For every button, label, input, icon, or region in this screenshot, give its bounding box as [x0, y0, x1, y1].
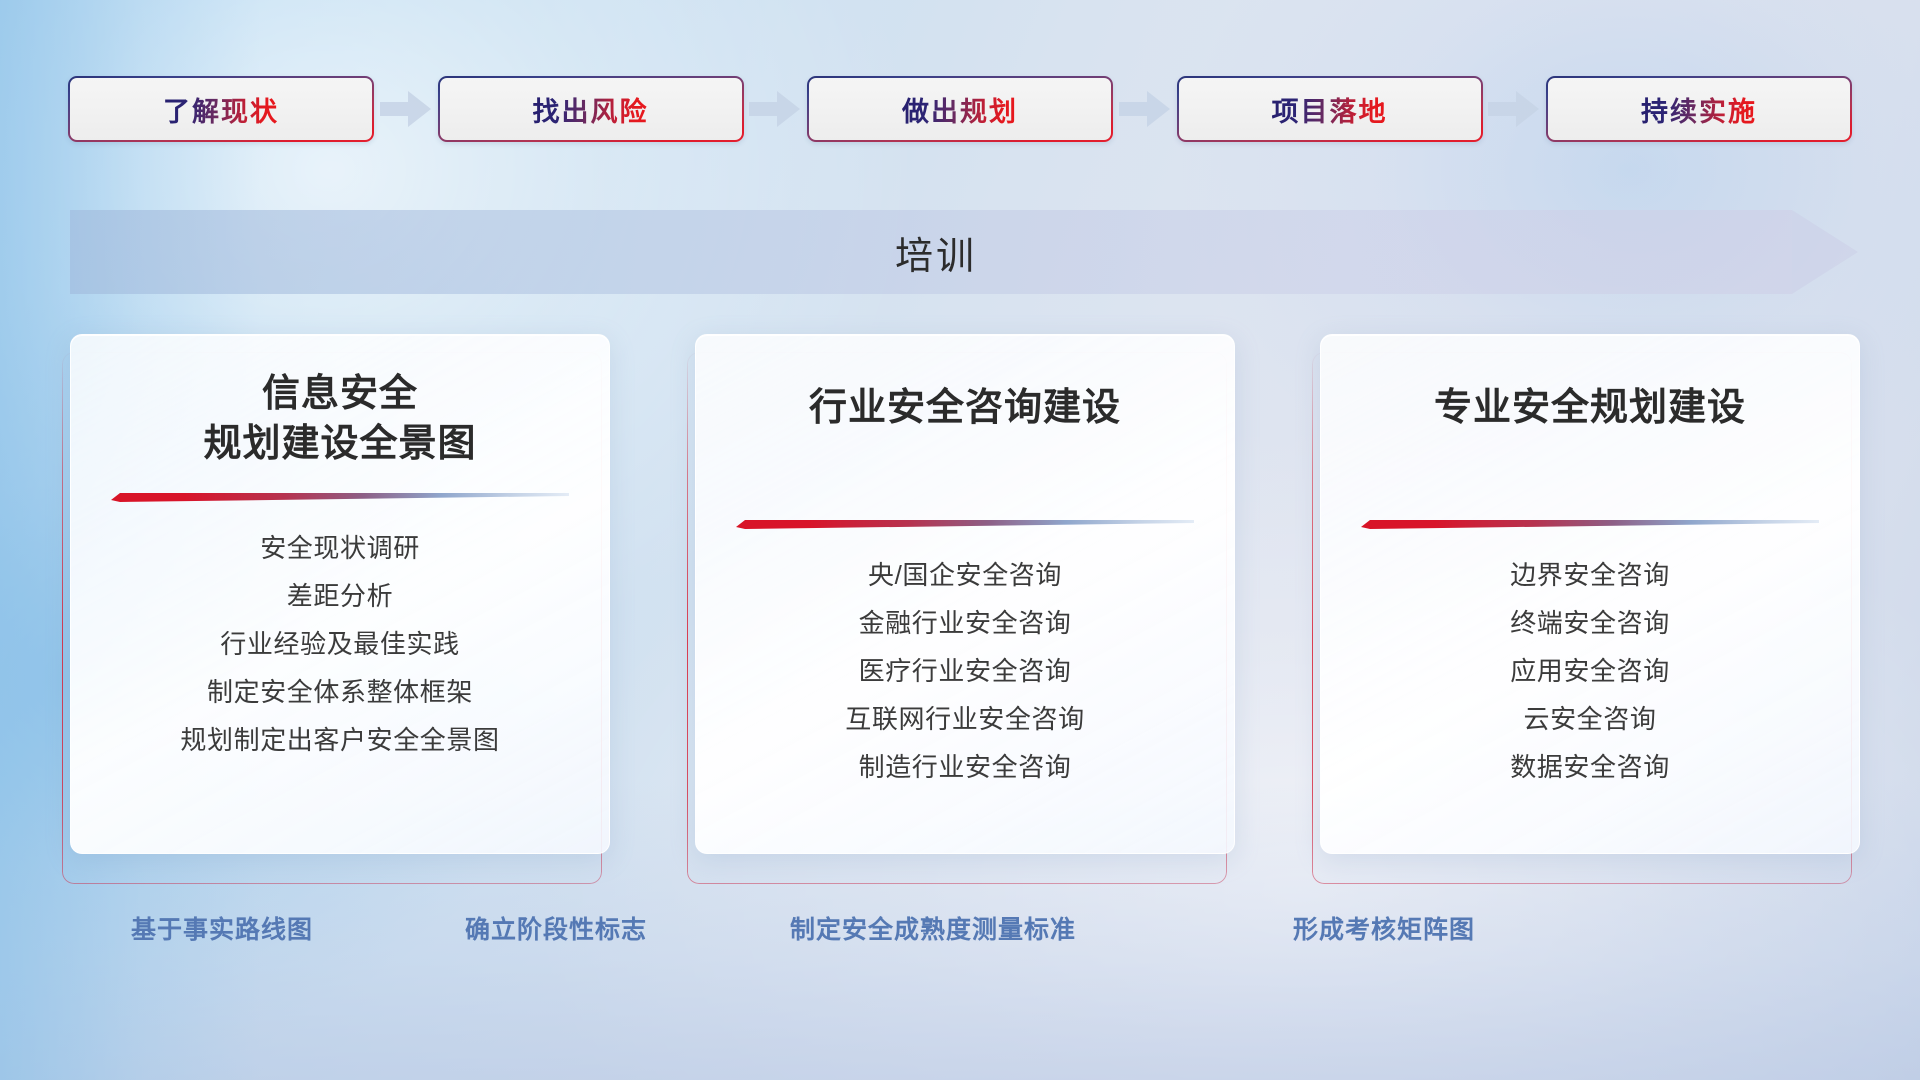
footnote-1: 基于事实路线图 — [131, 910, 313, 946]
arrow-right-icon — [374, 89, 438, 129]
card-title-block: 专业安全规划建设 — [1355, 335, 1825, 433]
feature-card-3[interactable]: 专业安全规划建设 — [1320, 334, 1860, 854]
process-step-flow: 了解现状 找出风险 做出规划 — [68, 76, 1852, 142]
feature-card-1-wrapper: 信息安全 规划建设全景图 — [70, 334, 610, 884]
card-title: 信息安全 规划建设全景图 — [105, 369, 575, 469]
gradient-rule — [1361, 520, 1819, 529]
list-item: 央/国企安全咨询 — [868, 555, 1062, 592]
training-banner-arrowhead — [1792, 210, 1858, 294]
step-label: 持续实施 — [1641, 90, 1757, 129]
list-item: 金融行业安全咨询 — [859, 603, 1072, 640]
list-item: 医疗行业安全咨询 — [859, 651, 1072, 688]
footnote-2: 确立阶段性标志 — [465, 910, 647, 946]
arrow-right-icon — [1113, 89, 1177, 129]
step-chip-inner: 项目落地 — [1179, 78, 1481, 140]
feature-card-2[interactable]: 行业安全咨询建设 — [695, 334, 1235, 854]
list-item: 云安全咨询 — [1523, 699, 1656, 736]
arrow-right-icon — [1483, 89, 1547, 129]
list-item: 行业经验及最佳实践 — [220, 624, 459, 661]
card-title-block: 行业安全咨询建设 — [730, 335, 1200, 433]
step-label: 了解现状 — [163, 90, 279, 129]
footnote-3: 制定安全成熟度测量标准 — [790, 910, 1076, 946]
gradient-rule — [111, 493, 569, 502]
training-banner-label: 培训 — [70, 210, 1792, 294]
feature-card-row: 信息安全 规划建设全景图 — [70, 334, 1860, 884]
step-chip-5[interactable]: 持续实施 — [1546, 76, 1852, 142]
list-item: 规划制定出客户安全全景图 — [180, 720, 499, 757]
card-title: 行业安全咨询建设 — [730, 383, 1200, 433]
list-item: 制定安全体系整体框架 — [207, 672, 473, 709]
card-item-list: 边界安全咨询 终端安全咨询 应用安全咨询 云安全咨询 数据安全咨询 — [1355, 555, 1825, 784]
footnote-row: 基于事实路线图 确立阶段性标志 制定安全成熟度测量标准 形成考核矩阵图 — [0, 910, 1920, 958]
step-chip-inner: 找出风险 — [440, 78, 742, 140]
list-item: 终端安全咨询 — [1510, 603, 1670, 640]
step-chip-1[interactable]: 了解现状 — [68, 76, 374, 142]
feature-card-1[interactable]: 信息安全 规划建设全景图 — [70, 334, 610, 854]
footnote-4: 形成考核矩阵图 — [1293, 910, 1475, 946]
step-chip-inner: 了解现状 — [70, 78, 372, 140]
list-item: 边界安全咨询 — [1510, 555, 1670, 592]
step-label: 找出风险 — [533, 90, 649, 129]
list-item: 安全现状调研 — [260, 528, 420, 565]
card-item-list: 安全现状调研 差距分析 行业经验及最佳实践 制定安全体系整体框架 规划制定出客户… — [105, 528, 575, 757]
list-item: 互联网行业安全咨询 — [845, 699, 1084, 736]
list-item: 制造行业安全咨询 — [859, 747, 1072, 784]
list-item: 差距分析 — [287, 576, 393, 613]
card-title-block: 信息安全 规划建设全景图 — [105, 335, 575, 469]
step-chip-inner: 持续实施 — [1548, 78, 1850, 140]
feature-card-3-wrapper: 专业安全规划建设 — [1320, 334, 1860, 884]
step-chip-3[interactable]: 做出规划 — [807, 76, 1113, 142]
step-chip-4[interactable]: 项目落地 — [1177, 76, 1483, 142]
feature-card-2-wrapper: 行业安全咨询建设 — [695, 334, 1235, 884]
step-chip-2[interactable]: 找出风险 — [438, 76, 744, 142]
card-item-list: 央/国企安全咨询 金融行业安全咨询 医疗行业安全咨询 互联网行业安全咨询 制造行… — [730, 555, 1200, 784]
slide-canvas: 了解现状 找出风险 做出规划 — [0, 0, 1920, 1080]
card-title: 专业安全规划建设 — [1355, 383, 1825, 433]
step-label: 做出规划 — [902, 90, 1018, 129]
training-banner: 培训 — [70, 210, 1860, 294]
gradient-rule — [736, 520, 1194, 529]
list-item: 应用安全咨询 — [1510, 651, 1670, 688]
list-item: 数据安全咨询 — [1510, 747, 1670, 784]
arrow-right-icon — [744, 89, 808, 129]
step-chip-inner: 做出规划 — [809, 78, 1111, 140]
step-label: 项目落地 — [1272, 90, 1388, 129]
